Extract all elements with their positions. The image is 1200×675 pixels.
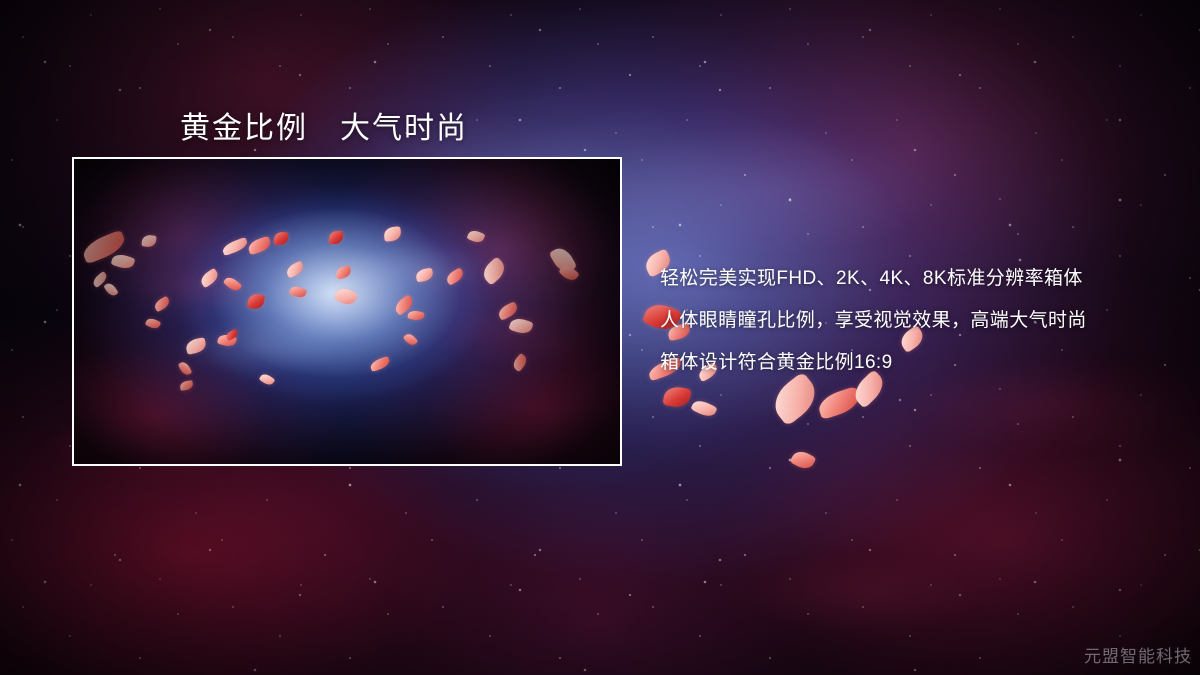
petal	[816, 386, 863, 420]
slide-title: 黄金比例 大气时尚	[180, 103, 468, 147]
petal	[662, 385, 691, 409]
panel-vignette	[74, 159, 620, 464]
body-text-block: 轻松完美实现FHD、2K、4K、8K标准分辨率箱体 人体眼睛瞳孔比例，享受视觉效…	[660, 258, 1180, 384]
nebula-preview-frame	[72, 157, 622, 466]
petal	[790, 448, 817, 472]
presentation-slide: 黄金比例 大气时尚	[0, 0, 1200, 675]
body-line-3: 箱体设计符合黄金比例16:9	[660, 342, 1180, 384]
watermark: 元盟智能科技	[1084, 642, 1192, 667]
petal	[690, 397, 717, 419]
body-line-2: 人体眼睛瞳孔比例，享受视觉效果，高端大气时尚	[660, 300, 1180, 342]
body-line-1: 轻松完美实现FHD、2K、4K、8K标准分辨率箱体	[660, 258, 1180, 300]
